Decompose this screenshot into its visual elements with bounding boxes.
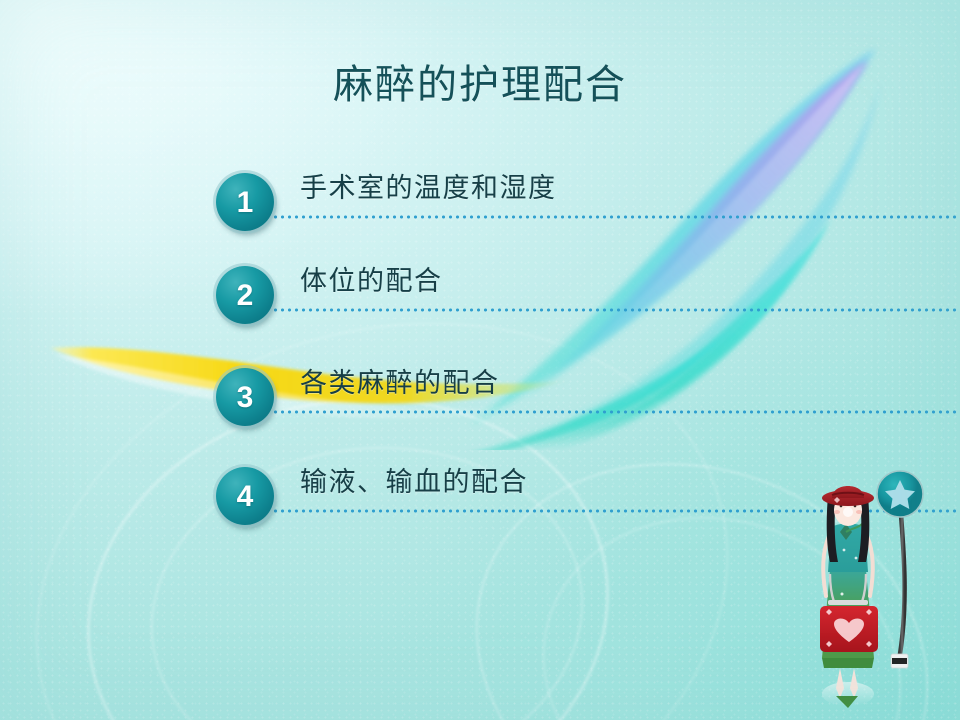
dotted-leader-3 <box>272 410 960 414</box>
agenda-number-badge-2[interactable]: 2 <box>216 266 274 324</box>
agenda-label-2: 体位的配合 <box>300 259 443 298</box>
agenda-label-1: 手术室的温度和湿度 <box>300 166 557 205</box>
pole-base-band <box>892 658 907 664</box>
agenda-number-1: 1 <box>237 188 254 218</box>
agenda-item-4[interactable]: 4 输液、输血的配合 <box>216 464 756 536</box>
blouse-dot <box>843 549 846 552</box>
sign-pole <box>900 502 905 654</box>
dotted-leader-1 <box>272 215 960 219</box>
agenda-number-2: 2 <box>237 281 254 311</box>
agenda-number-badge-4[interactable]: 4 <box>216 467 274 525</box>
agenda-number-3: 3 <box>237 383 254 413</box>
skirt-dot <box>841 593 844 596</box>
agenda-number-badge-3[interactable]: 3 <box>216 368 274 426</box>
skirt-hem <box>822 658 874 668</box>
agenda-label-4: 输液、输血的配合 <box>300 460 528 499</box>
agenda-item-2[interactable]: 2 体位的配合 <box>216 263 756 335</box>
girl-with-suitcase-illustration <box>800 462 960 714</box>
girl-blush-left <box>834 510 840 514</box>
blouse-dot <box>855 557 858 560</box>
agenda-label-3: 各类麻醉的配合 <box>300 361 500 400</box>
agenda-number-4: 4 <box>237 482 254 512</box>
slide-title: 麻醉的护理配合 <box>0 62 960 108</box>
agenda-item-3[interactable]: 3 各类麻醉的配合 <box>216 365 756 437</box>
agenda-number-badge-1[interactable]: 1 <box>216 173 274 231</box>
presentation-slide: 1 手术室的温度和湿度 2 体位的配合 3 各类麻醉的配合 4 输液、输血的配合 <box>0 0 960 720</box>
dotted-leader-2 <box>272 308 960 312</box>
agenda-item-1[interactable]: 1 手术室的温度和湿度 <box>216 170 756 242</box>
suitcase-hinge <box>828 600 868 605</box>
girl-mouth-bubble <box>843 507 853 517</box>
girl-blush-right <box>856 510 862 514</box>
